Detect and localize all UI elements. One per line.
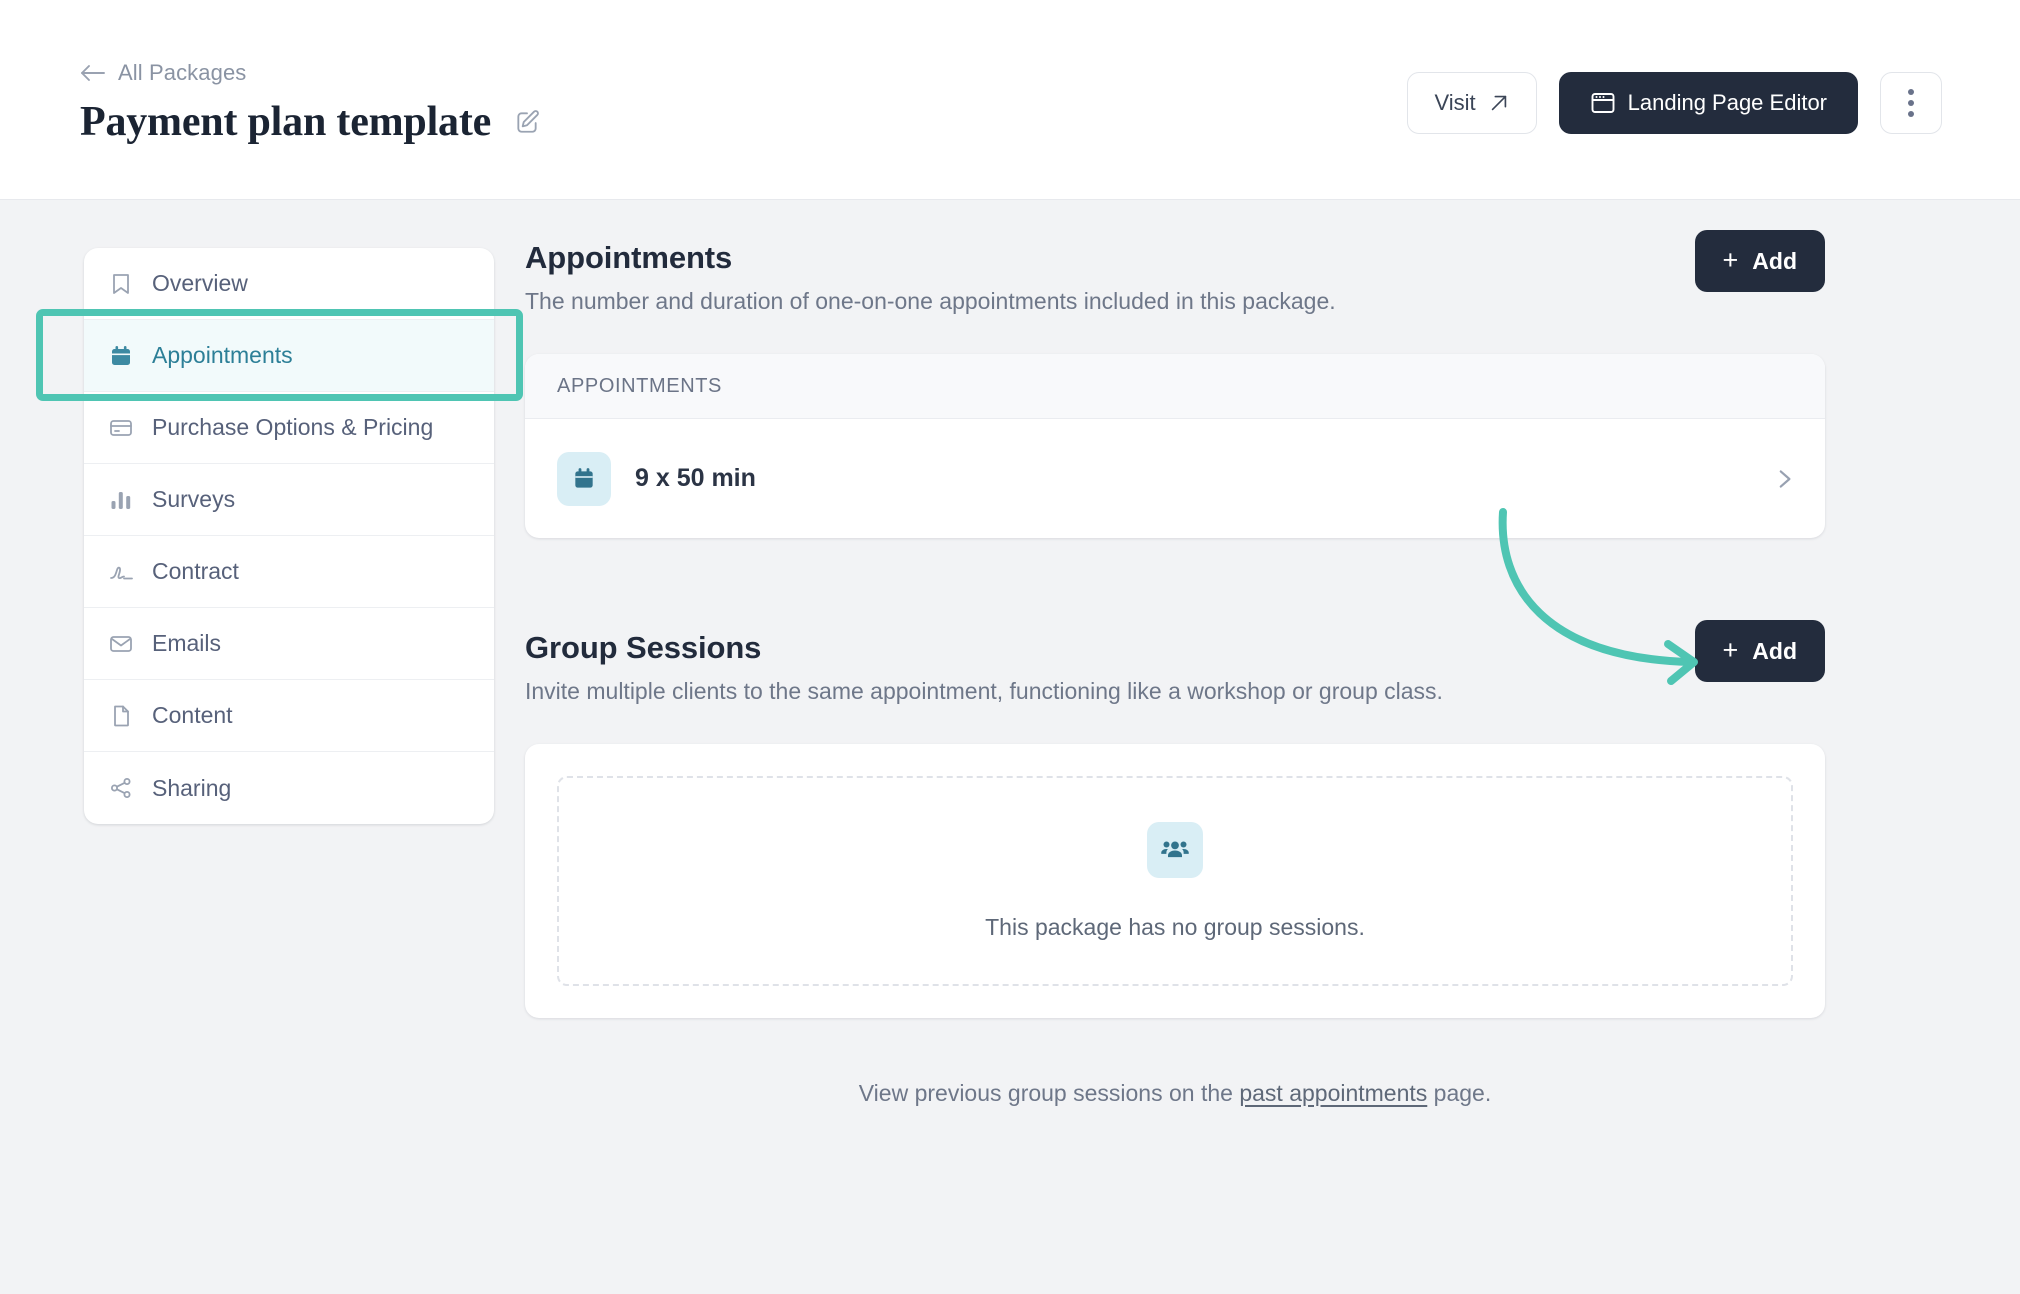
main-content: Appointments The number and duration of … xyxy=(525,240,1825,1107)
page-header: All Packages Payment plan template Visit xyxy=(0,0,2020,200)
past-appointments-link[interactable]: past appointments xyxy=(1239,1080,1427,1106)
sidebar-item-label: Appointments xyxy=(152,342,293,369)
group-sessions-section-description: Invite multiple clients to the same appo… xyxy=(525,678,1825,705)
footer-text-before: View previous group sessions on the xyxy=(859,1080,1240,1106)
page-title: Payment plan template xyxy=(80,95,491,149)
bar-chart-icon xyxy=(108,487,134,513)
chevron-right-icon[interactable] xyxy=(1771,466,1797,492)
browser-window-icon xyxy=(1590,91,1616,115)
plus-icon: + xyxy=(1723,637,1739,664)
appointments-add-button[interactable]: + Add xyxy=(1695,230,1826,292)
sidebar-item-sharing[interactable]: Sharing xyxy=(84,752,494,824)
plus-icon: + xyxy=(1723,247,1739,274)
file-icon xyxy=(108,703,134,729)
arrow-left-icon xyxy=(80,62,106,84)
users-group-icon xyxy=(1147,822,1203,878)
group-sessions-card: This package has no group sessions. xyxy=(525,744,1825,1018)
back-link-label: All Packages xyxy=(118,60,246,86)
group-sessions-section-header: Group Sessions Invite multiple clients t… xyxy=(525,630,1825,722)
credit-card-icon xyxy=(108,415,134,441)
group-sessions-add-wrap: + Add xyxy=(1695,620,1826,682)
appointments-add-label: Add xyxy=(1752,248,1797,275)
kebab-menu-icon xyxy=(1908,89,1914,117)
share-nodes-icon xyxy=(108,775,134,801)
sidebar-item-surveys[interactable]: Surveys xyxy=(84,464,494,536)
sidebar-item-appointments[interactable]: Appointments xyxy=(84,320,494,392)
calendar-icon xyxy=(108,343,134,369)
bookmark-icon xyxy=(108,271,134,297)
group-sessions-empty-text: This package has no group sessions. xyxy=(985,914,1365,941)
footer-text-after: page. xyxy=(1427,1080,1491,1106)
sidebar-item-label: Purchase Options & Pricing xyxy=(152,414,433,441)
sidebar-item-contract[interactable]: Contract xyxy=(84,536,494,608)
appointments-add-wrap: + Add xyxy=(1695,230,1826,292)
appointments-column-header: APPOINTMENTS xyxy=(525,354,1825,419)
package-sidebar-nav: Overview Appointments Purchase Options &… xyxy=(84,248,494,824)
appointments-section-header: Appointments The number and duration of … xyxy=(525,240,1825,332)
edit-title-button[interactable] xyxy=(505,100,549,144)
sidebar-item-label: Emails xyxy=(152,630,221,657)
group-sessions-add-label: Add xyxy=(1752,638,1797,665)
group-sessions-empty-state: This package has no group sessions. xyxy=(557,776,1793,986)
calendar-icon xyxy=(557,452,611,506)
envelope-icon xyxy=(108,631,134,657)
appointments-section-description: The number and duration of one-on-one ap… xyxy=(525,288,1825,315)
more-options-button[interactable] xyxy=(1880,72,1942,134)
appointment-row[interactable]: 9 x 50 min xyxy=(525,419,1825,538)
footer-note: View previous group sessions on the past… xyxy=(525,1080,1825,1107)
external-link-icon xyxy=(1488,92,1510,114)
sidebar-item-content[interactable]: Content xyxy=(84,680,494,752)
appointments-section-title: Appointments xyxy=(525,240,1825,276)
appointment-row-label: 9 x 50 min xyxy=(635,464,1747,493)
appointments-card: APPOINTMENTS 9 x 50 min xyxy=(525,354,1825,538)
sidebar-item-label: Overview xyxy=(152,270,248,297)
edit-pencil-icon xyxy=(514,109,540,135)
sidebar-item-emails[interactable]: Emails xyxy=(84,608,494,680)
signature-icon xyxy=(108,559,134,585)
group-sessions-section-title: Group Sessions xyxy=(525,630,1825,666)
sidebar-item-purchase-options-pricing[interactable]: Purchase Options & Pricing xyxy=(84,392,494,464)
sidebar-item-label: Contract xyxy=(152,558,239,585)
sidebar-item-label: Surveys xyxy=(152,486,235,513)
visit-button-label: Visit xyxy=(1434,90,1475,116)
header-actions: Visit Landing Page Editor xyxy=(1407,72,1942,134)
back-to-all-packages-link[interactable]: All Packages xyxy=(80,60,246,86)
visit-button[interactable]: Visit xyxy=(1407,72,1536,134)
sidebar-item-label: Sharing xyxy=(152,775,231,802)
sidebar-item-overview[interactable]: Overview xyxy=(84,248,494,320)
landing-page-editor-label: Landing Page Editor xyxy=(1628,90,1827,116)
group-sessions-add-button[interactable]: + Add xyxy=(1695,620,1826,682)
title-row: Payment plan template xyxy=(80,95,549,149)
sidebar-item-label: Content xyxy=(152,702,233,729)
landing-page-editor-button[interactable]: Landing Page Editor xyxy=(1559,72,1858,134)
app-root: All Packages Payment plan template Visit xyxy=(0,0,2020,1294)
